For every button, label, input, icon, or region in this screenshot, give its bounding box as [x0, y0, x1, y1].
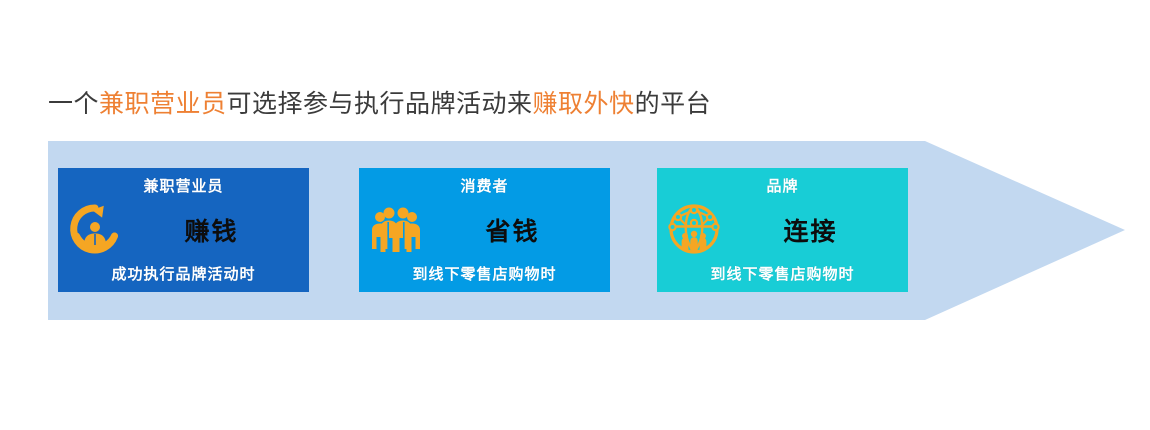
title-segment-3: 可选择参与执行品牌活动来 [227, 91, 533, 118]
card-header-label: 品牌 [657, 175, 908, 196]
card-footer-label: 到线下零售店购物时 [657, 263, 908, 284]
card-header-label: 消费者 [359, 175, 610, 196]
card-part-time-clerk[interactable]: 兼职营业员 赚钱 成功执行品牌活动时 [58, 168, 309, 292]
card-consumer[interactable]: 消费者 省钱 到线下零售店购物时 [359, 168, 610, 292]
card-main-label: 连接 [713, 212, 908, 248]
card-footer-label: 成功执行品牌活动时 [58, 263, 309, 284]
card-brand[interactable]: 品牌 [657, 168, 908, 292]
cards-row: 兼职营业员 赚钱 成功执行品牌活动时 消费者 [58, 168, 908, 292]
page-title: 一个兼职营业员可选择参与执行品牌活动来赚取外快的平台 [48, 88, 711, 122]
title-segment-2-highlight: 兼职营业员 [99, 91, 227, 118]
title-segment-5: 的平台 [635, 91, 712, 118]
card-header-label: 兼职营业员 [58, 175, 309, 196]
card-main-label: 省钱 [415, 212, 610, 248]
title-segment-4-highlight: 赚取外快 [533, 91, 635, 118]
card-footer-label: 到线下零售店购物时 [359, 263, 610, 284]
title-segment-1: 一个 [48, 91, 99, 118]
card-main-label: 赚钱 [114, 212, 309, 248]
